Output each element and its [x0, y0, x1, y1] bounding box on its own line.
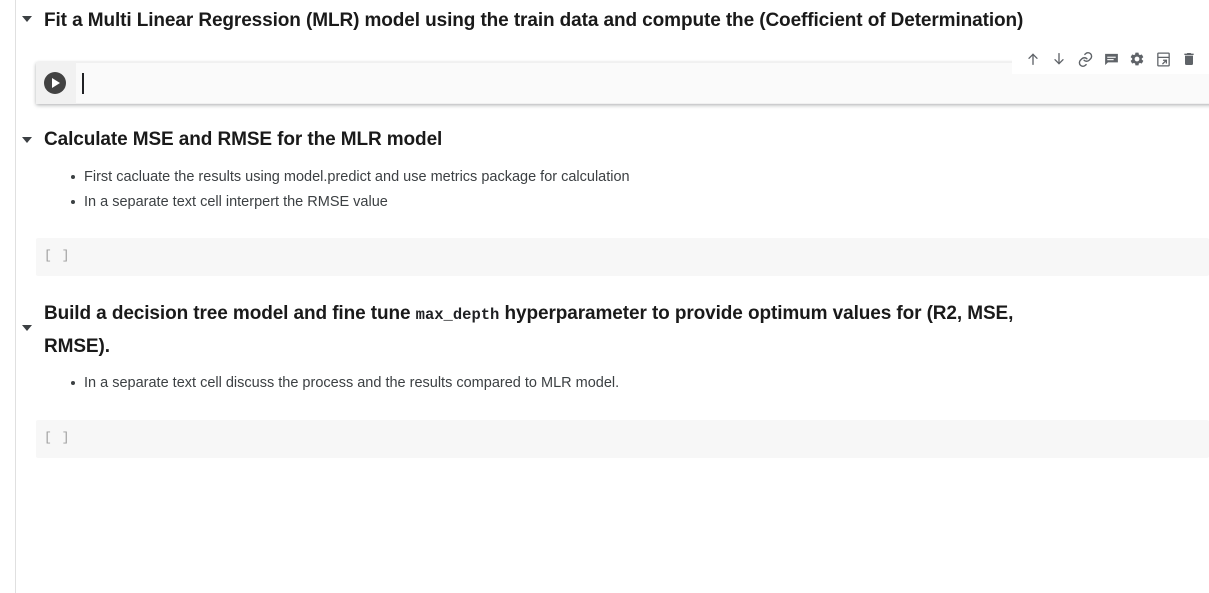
link-icon[interactable]	[1072, 46, 1098, 72]
section-heading-mlr-fit: Fit a Multi Linear Regression (MLR) mode…	[44, 5, 1149, 37]
list-item-text: In a separate text cell discuss the proc…	[84, 375, 619, 391]
section-heading-mse-rmse: Calculate MSE and RMSE for the MLR model	[44, 124, 1149, 156]
heading-text: Calculate MSE and RMSE for the MLR model	[44, 129, 442, 150]
list-item-text: In a separate text cell interpert the RM…	[84, 194, 388, 210]
code-cell-idle[interactable]: [ ]	[36, 420, 1209, 458]
heading-text: Fit a Multi Linear Regression (MLR) mode…	[44, 10, 1023, 31]
inline-code-max-depth: max_depth	[416, 306, 500, 324]
code-cell-idle[interactable]: [ ]	[36, 238, 1209, 276]
section-decision-tree: Build a decision tree model and fine tun…	[0, 298, 1209, 478]
section-collapse-arrow-mlr-fit[interactable]	[22, 16, 32, 22]
section-mse-rmse: Calculate MSE and RMSE for the MLR model…	[0, 124, 1209, 284]
gear-icon[interactable]	[1124, 46, 1150, 72]
comment-icon[interactable]	[1098, 46, 1124, 72]
execution-count-placeholder: [ ]	[44, 430, 70, 445]
list-item: In a separate text cell interpert the RM…	[84, 190, 630, 215]
list-item-text: First cacluate the results using model.p…	[84, 169, 630, 185]
cell-toolbar	[1012, 44, 1209, 74]
section-heading-decision-tree: Build a decision tree model and fine tun…	[44, 298, 1029, 363]
bullet-list-mse-rmse: First cacluate the results using model.p…	[64, 165, 630, 215]
play-icon[interactable]	[44, 72, 66, 94]
section-collapse-arrow-decision-tree[interactable]	[22, 325, 32, 331]
heading-text-part-1: Build a decision tree model and fine tun…	[44, 303, 416, 324]
arrow-up-icon[interactable]	[1020, 46, 1046, 72]
section-mlr-fit: Fit a Multi Linear Regression (MLR) mode…	[0, 0, 1209, 120]
bullet-list-decision-tree: In a separate text cell discuss the proc…	[64, 371, 619, 396]
run-button-gutter	[36, 62, 76, 104]
execution-count-placeholder: [ ]	[44, 248, 70, 263]
arrow-down-icon[interactable]	[1046, 46, 1072, 72]
list-item: First cacluate the results using model.p…	[84, 165, 630, 190]
text-caret	[82, 73, 84, 94]
colab-notebook-page: Fit a Multi Linear Regression (MLR) mode…	[0, 0, 1209, 593]
trash-icon[interactable]	[1176, 46, 1202, 72]
list-item: In a separate text cell discuss the proc…	[84, 371, 619, 396]
mirror-cell-icon[interactable]	[1150, 46, 1176, 72]
section-collapse-arrow-mse-rmse[interactable]	[22, 137, 32, 143]
